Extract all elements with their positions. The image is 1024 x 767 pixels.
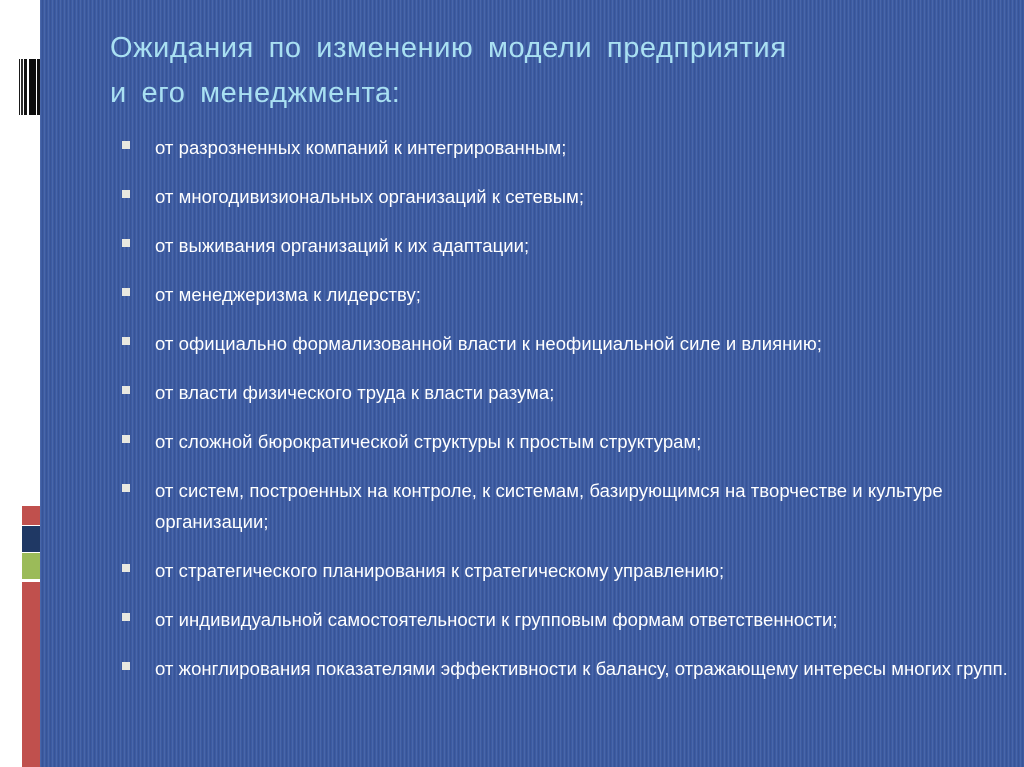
bullet-square-icon: [122, 337, 130, 345]
decoration-chip-green: [22, 553, 40, 579]
slide-content-panel: Ожидания по изменению модели предприятия…: [40, 0, 1024, 767]
bullet-square-icon: [122, 288, 130, 296]
list-item-text: от многодивизиональных организаций к сет…: [155, 181, 1024, 212]
bullet-square-icon: [122, 564, 130, 572]
list-item: от индивидуальной самостоятельности к гр…: [98, 604, 1024, 635]
list-item-text: от власти физического труда к власти раз…: [155, 377, 1024, 408]
list-item: от менеджеризма к лидерству;: [98, 279, 1024, 310]
list-item: от жонглирования показателями эффективно…: [98, 653, 1024, 684]
list-item-text: от индивидуальной самостоятельности к гр…: [155, 604, 1024, 635]
decoration-bar-red-long: [22, 582, 40, 767]
decoration-chip-navy: [22, 526, 40, 552]
bullet-square-icon: [122, 190, 130, 198]
decoration-chip-red-top: [22, 506, 40, 525]
list-item-text: от сложной бюрократической структуры к п…: [155, 426, 1024, 457]
bullet-square-icon: [122, 435, 130, 443]
left-margin-strip: [0, 0, 40, 767]
list-item-text: от жонглирования показателями эффективно…: [155, 653, 1024, 684]
list-item-text: от систем, построенных на контроле, к си…: [155, 475, 1024, 537]
list-item: от сложной бюрократической структуры к п…: [98, 426, 1024, 457]
bullet-list: от разрозненных компаний к интегрированн…: [98, 132, 1024, 702]
barcode-stripes-icon: [18, 59, 40, 115]
bullet-square-icon: [122, 662, 130, 670]
bullet-square-icon: [122, 613, 130, 621]
list-item: от стратегического планирования к страте…: [98, 555, 1024, 586]
bullet-square-icon: [122, 386, 130, 394]
list-item-text: от стратегического планирования к страте…: [155, 555, 1024, 586]
list-item: от выживания организаций к их адаптации;: [98, 230, 1024, 261]
list-item-text: от выживания организаций к их адаптации;: [155, 230, 1024, 261]
slide-title: Ожидания по изменению модели предприятия…: [110, 26, 990, 116]
list-item-text: от официально формализованной власти к н…: [155, 328, 1024, 359]
list-item: от разрозненных компаний к интегрированн…: [98, 132, 1024, 163]
list-item-text: от разрозненных компаний к интегрированн…: [155, 132, 1024, 163]
list-item: от власти физического труда к власти раз…: [98, 377, 1024, 408]
bullet-square-icon: [122, 141, 130, 149]
bullet-square-icon: [122, 239, 130, 247]
slide-canvas: Ожидания по изменению модели предприятия…: [0, 0, 1024, 767]
list-item: от многодивизиональных организаций к сет…: [98, 181, 1024, 212]
list-item: от систем, построенных на контроле, к си…: [98, 475, 1024, 537]
list-item: от официально формализованной власти к н…: [98, 328, 1024, 359]
bullet-square-icon: [122, 484, 130, 492]
list-item-text: от менеджеризма к лидерству;: [155, 279, 1024, 310]
